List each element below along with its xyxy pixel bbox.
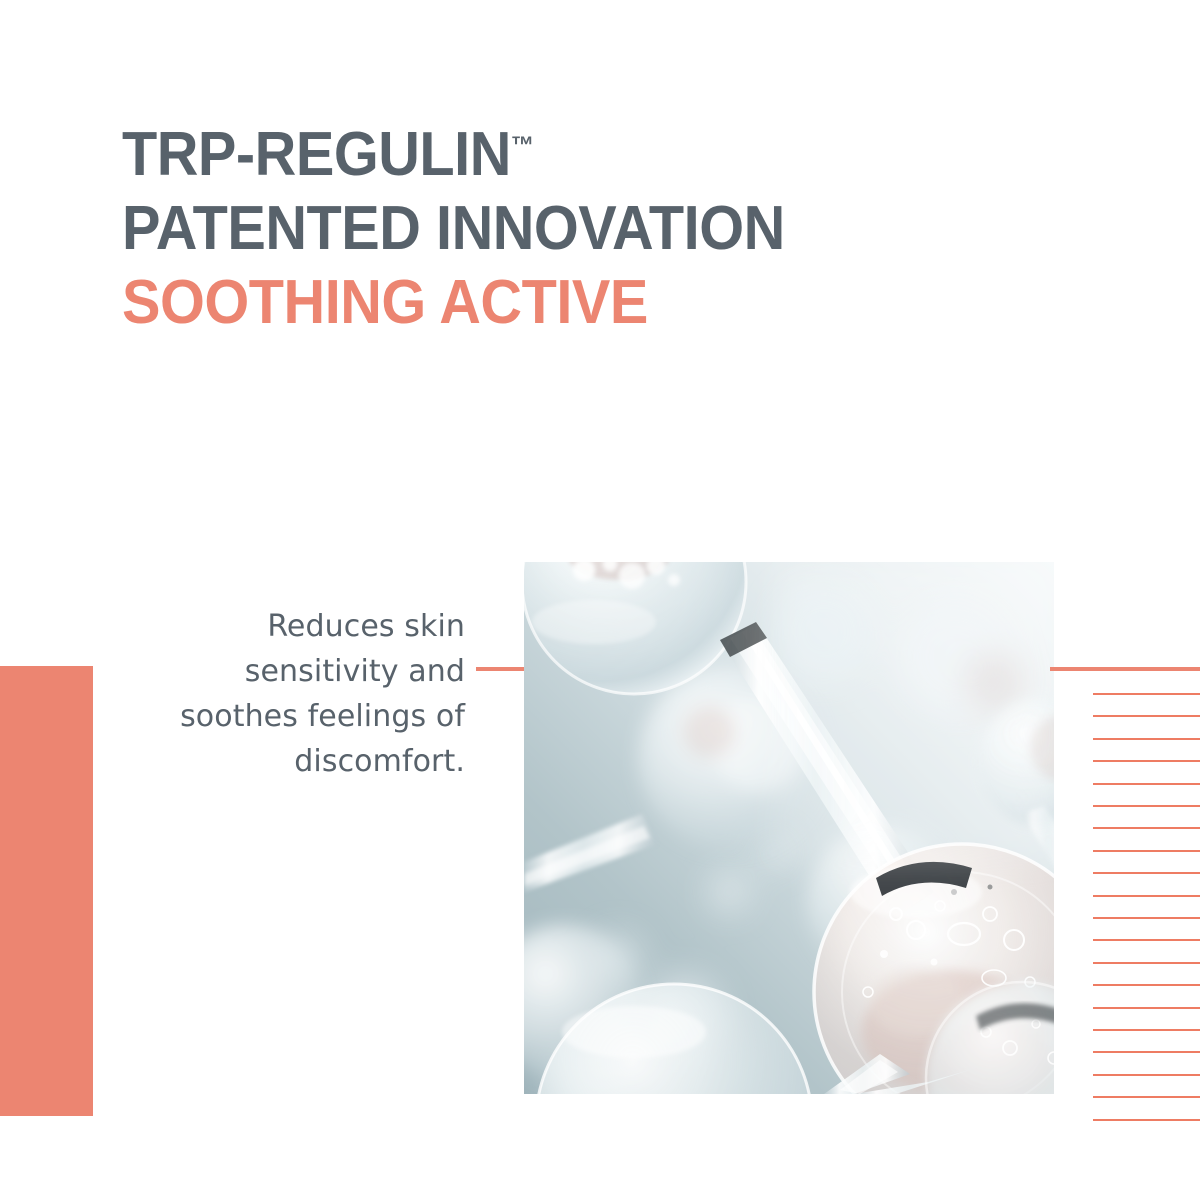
coral-rule-line <box>1093 1119 1200 1121</box>
coral-rule-line <box>1093 1096 1200 1098</box>
coral-accent-block <box>0 666 93 1116</box>
coral-connector-rule <box>476 667 526 671</box>
coral-rule-stack <box>1093 693 1200 1133</box>
trademark-symbol: ™ <box>511 132 534 159</box>
coral-rule-line <box>1093 962 1200 964</box>
headline-line-3: SOOTHING ACTIVE <box>122 266 1015 340</box>
body-copy: Reduces skin sensitivity and soothes fee… <box>170 604 465 784</box>
coral-rule-line <box>1093 1029 1200 1031</box>
molecule-illustration <box>524 562 1054 1094</box>
coral-rule-line <box>1093 1007 1200 1009</box>
coral-rule-line <box>1093 827 1200 829</box>
coral-rule-line <box>1093 939 1200 941</box>
coral-rule-line <box>1093 693 1200 695</box>
coral-rule-line <box>1093 783 1200 785</box>
headline-block: TRP-REGULIN™ PATENTED INNOVATION SOOTHIN… <box>122 118 1082 340</box>
coral-rule-line <box>1093 715 1200 717</box>
headline-line-1: TRP-REGULIN™ <box>122 118 1015 192</box>
headline-line-2: PATENTED INNOVATION <box>122 192 1015 266</box>
coral-rule-line <box>1093 760 1200 762</box>
coral-rule-line <box>1093 1074 1200 1076</box>
coral-rule-line <box>1093 895 1200 897</box>
coral-rule-line <box>1093 805 1200 807</box>
coral-rule-line <box>1093 984 1200 986</box>
poster-canvas: TRP-REGULIN™ PATENTED INNOVATION SOOTHIN… <box>0 0 1200 1200</box>
coral-rule-line <box>1093 1051 1200 1053</box>
coral-rule-line <box>1093 738 1200 740</box>
coral-rule-right <box>1050 667 1200 671</box>
molecule-photo <box>524 562 1054 1094</box>
coral-rule-line <box>1093 872 1200 874</box>
coral-rule-line <box>1093 850 1200 852</box>
coral-rule-line <box>1093 917 1200 919</box>
headline-line-1-text: TRP-REGULIN <box>122 120 511 189</box>
